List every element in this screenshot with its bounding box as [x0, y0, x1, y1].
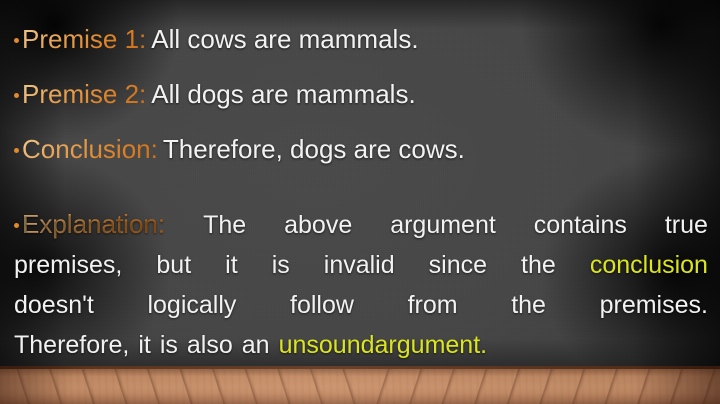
word: but [156, 245, 191, 285]
slide-content: Premise 1: All cows are mammals. Premise… [0, 0, 720, 368]
premise-2-label: Premise 2: [22, 80, 146, 109]
word: The [203, 205, 246, 245]
explanation-label-group: Explanation: [14, 210, 165, 239]
bullet-dot-icon [14, 93, 19, 98]
explanation-line-3: doesn't logically follow from the premis… [14, 285, 708, 325]
presentation-slide: Premise 1: All cows are mammals. Premise… [0, 0, 720, 404]
explanation-label: Explanation: [22, 210, 165, 239]
word: premises, [14, 245, 122, 285]
bullet-item-explanation: Explanation: The above argument contains… [14, 205, 708, 365]
premise-2-text: All dogs are mammals. [151, 80, 415, 109]
floor-shading [0, 366, 720, 404]
word: argument [390, 205, 496, 245]
word: above [284, 205, 352, 245]
premise-1-label: Premise 1: [22, 25, 146, 54]
conclusion-label: Conclusion: [22, 135, 158, 164]
bullet-item-conclusion: Conclusion: Therefore, dogs are cows. [14, 135, 704, 164]
bullet-dot-icon [14, 148, 19, 153]
bullet-item-premise-1: Premise 1: All cows are mammals. [14, 25, 704, 54]
word: premises. [600, 285, 708, 325]
word: contains [534, 205, 627, 245]
word: an [242, 325, 270, 365]
explanation-line-1: Explanation: The above argument contains… [14, 205, 708, 245]
conclusion-text: Therefore, dogs are cows. [163, 135, 465, 164]
word: the [511, 285, 546, 325]
word: logically [147, 285, 236, 325]
explanation-line-2: premises, but it is invalid since the co… [14, 245, 708, 285]
word: follow [290, 285, 354, 325]
highlighted-word-argument: argument. [375, 325, 488, 365]
explanation-line-4: Therefore, it is also an unsound argumen… [14, 325, 708, 365]
word: doesn't [14, 285, 94, 325]
word: from [408, 285, 458, 325]
bullet-dot-icon [14, 38, 19, 43]
word: is [272, 245, 290, 285]
word: it [138, 325, 151, 365]
highlighted-word-conclusion: conclusion [590, 245, 708, 285]
word: Therefore, [14, 325, 129, 365]
premise-1-text: All cows are mammals. [151, 25, 418, 54]
highlighted-word-unsound: unsound [279, 325, 375, 365]
word: true [665, 205, 708, 245]
word: the [521, 245, 556, 285]
wooden-floor [0, 366, 720, 404]
bullet-item-premise-2: Premise 2: All dogs are mammals. [14, 80, 704, 109]
word: it [225, 245, 238, 285]
word: invalid [324, 245, 395, 285]
word: is [160, 325, 178, 365]
word: since [429, 245, 487, 285]
word: also [187, 325, 233, 365]
bullet-dot-icon [14, 223, 19, 228]
